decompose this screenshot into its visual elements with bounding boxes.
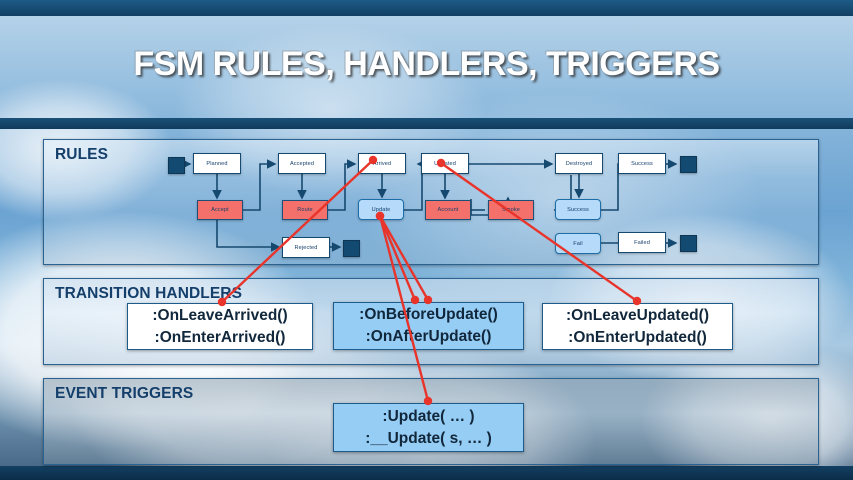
code-line: :OnBeforeUpdate() [359,304,498,326]
fsm-node-label: Updated [434,161,456,167]
fsm-node-label: Account [438,207,459,213]
fsm-terminal-start1[interactable] [168,157,185,174]
fsm-node-success_b[interactable]: Success [618,153,666,174]
handler-box-arrived-handlers[interactable]: :OnLeaveArrived():OnEnterArrived() [127,303,313,350]
rules-panel: RULES [43,139,819,265]
fsm-node-label: Rejected [295,245,318,251]
fsm-node-label: Accept [211,207,229,213]
code-line: :Update( … ) [382,406,474,428]
fsm-node-accepted[interactable]: Accepted [278,153,326,174]
code-line: :OnAfterUpdate() [366,326,492,348]
fsm-terminal-end2[interactable] [680,156,697,173]
fsm-node-label: Accepted [290,161,314,167]
fsm-node-label: Success [567,207,589,213]
fsm-node-accept[interactable]: Accept [197,200,243,220]
fsm-node-success_a[interactable]: Success [555,199,601,220]
trigger-box-update-triggers[interactable]: :Update( … ):__Update( s, … ) [333,403,524,452]
fsm-node-planned[interactable]: Planned [193,153,241,174]
fsm-node-arrived[interactable]: Arrived [358,153,406,174]
top-accent-strip [0,0,853,16]
bottom-accent-strip [0,466,853,480]
fsm-node-destroyed[interactable]: Destroyed [555,153,603,174]
fsm-node-route[interactable]: Route [282,200,328,220]
code-line: :__Update( s, … ) [365,428,492,450]
title-divider-strip [0,118,853,129]
code-line: :OnLeaveUpdated() [566,305,709,327]
transition-handlers-panel-title: TRANSITION HANDLERS [55,285,242,303]
fsm-node-label: Destroyed [566,161,592,167]
fsm-node-rejected[interactable]: Rejected [282,237,330,258]
fsm-node-updated[interactable]: Updated [421,153,469,174]
handler-box-update-handlers[interactable]: :OnBeforeUpdate():OnAfterUpdate() [333,302,524,350]
fsm-node-account[interactable]: Account [425,200,471,220]
fsm-node-label: Arrived [373,161,391,167]
slide-canvas: FSM RULES, HANDLERS, TRIGGERS RULES [0,0,853,480]
slide-title: FSM RULES, HANDLERS, TRIGGERS [0,45,853,84]
fsm-node-label: Fail [573,241,582,247]
fsm-terminal-end3[interactable] [680,235,697,252]
fsm-diagram: PlannedAcceptAcceptedRouteRejectedArrive… [44,140,818,264]
fsm-node-label: Failed [634,240,650,246]
fsm-node-label: Success [631,161,653,167]
fsm-terminal-end1[interactable] [343,240,360,257]
fsm-node-fail[interactable]: Fail [555,233,601,254]
fsm-node-label: Update [372,207,391,213]
code-line: :OnEnterUpdated() [568,327,707,349]
fsm-node-update[interactable]: Update [358,199,404,220]
fsm-node-smoke[interactable]: Smoke [488,200,534,220]
code-line: :OnLeaveArrived() [152,305,287,327]
code-line: :OnEnterArrived() [155,327,286,349]
handler-box-updated-handlers[interactable]: :OnLeaveUpdated():OnEnterUpdated() [542,303,733,350]
fsm-node-label: Route [297,207,312,213]
fsm-node-label: Planned [206,161,227,167]
fsm-node-failed[interactable]: Failed [618,232,666,253]
event-triggers-panel-title: EVENT TRIGGERS [55,385,193,403]
fsm-node-label: Smoke [502,207,520,213]
